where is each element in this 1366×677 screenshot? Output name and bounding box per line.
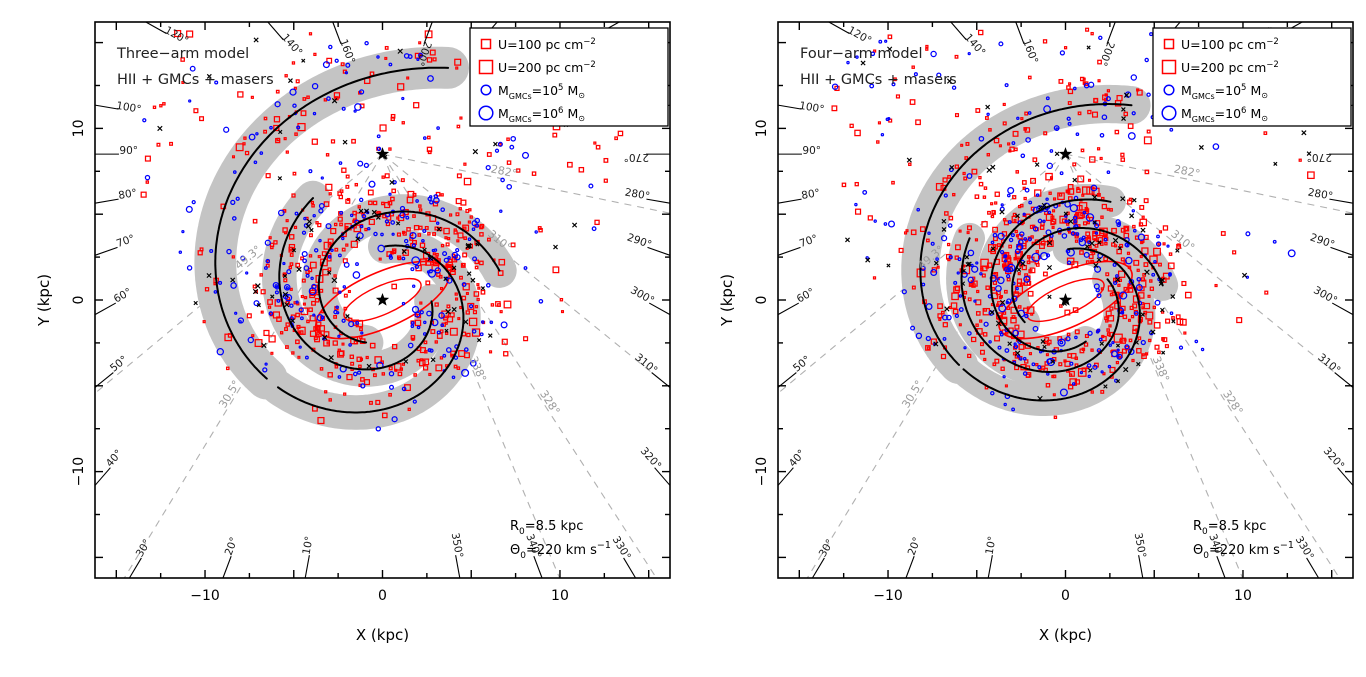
y-tick-label: 10 [71,119,87,137]
longitude-label: 270° [1307,151,1332,163]
panel-title-line2: HII + GMCs + masers [800,72,957,88]
y-tick-label: −10 [754,457,770,487]
longitude-label: 100° [115,100,142,116]
longitude-label: 290° [625,231,653,251]
galactic-center-marker [376,293,389,306]
longitude-label: 60° [112,286,134,306]
x-tick-label: 0 [378,588,387,604]
longitude-label: 160° [1020,38,1040,66]
x-tick-label: 10 [551,588,569,604]
longitude-label: 320° [1321,445,1347,472]
tangent-ray-label: 30.5° [216,378,243,410]
x-tick-label: 0 [1061,588,1070,604]
longitude-label: 350° [1132,532,1148,559]
longitude-label: 290° [1308,231,1336,251]
longitude-label: 80° [801,187,821,202]
legend-label: U=200 pc cm−2 [498,60,596,75]
spiral-arm-bands [920,104,1162,401]
longitude-label: 50° [108,354,130,375]
longitude-label: 90° [119,145,138,157]
longitude-label: 140° [962,32,988,59]
tangent-ray-label: 310° [1168,227,1197,254]
y-axis-label: Y (kpc) [718,274,736,327]
longitude-label: 20° [223,536,241,558]
panel-four-arm-model: −10010100−10X (kpc)Y (kpc)240°220°200°16… [683,0,1366,677]
longitude-label: 20° [906,536,924,558]
longitude-label: 30° [817,537,837,559]
longitude-label: 160° [337,38,357,66]
x-tick-label: −10 [873,588,903,604]
x-tick-label: 10 [1234,588,1252,604]
theta0-annotation: Θ0=220 km s−1 [1193,540,1294,561]
longitude-label: 70° [115,233,137,251]
longitude-label: 30° [134,537,154,559]
tangent-ray-label: 338° [467,354,489,383]
tangent-ray-label: 328° [1220,388,1245,417]
longitude-label: 10° [301,535,316,555]
longitude-label: 10° [984,535,999,555]
longitude-label: 80° [118,187,138,202]
y-tick-label: −10 [71,457,87,487]
longitude-label: 60° [795,286,817,306]
theta0-annotation: Θ0=220 km s−1 [510,540,611,561]
x-axis-label: X (kpc) [356,626,409,644]
r0-annotation: R0=8.5 kpc [1193,519,1266,537]
panel-title-line1: Three−arm model [116,46,249,62]
x-axis-label: X (kpc) [1039,626,1092,644]
y-tick-label: 0 [754,296,770,305]
longitude-label: 280° [1307,186,1334,202]
tangent-ray-label: 282° [1173,162,1202,180]
tangent-ray-label: 282° [490,162,519,180]
longitude-label: 310° [1315,351,1342,376]
longitude-label: 40° [787,448,808,470]
longitude-label: 300° [1311,284,1339,307]
r0-annotation: R0=8.5 kpc [510,519,583,537]
tangent-ray-label: 338° [1150,354,1172,383]
longitude-label: 120° [846,24,874,47]
longitude-label: 310° [632,351,659,376]
panel-three-arm-model: −10010100−10X (kpc)Y (kpc)240°220°200°16… [0,0,683,677]
y-axis-label: Y (kpc) [35,274,53,327]
longitude-label: 270° [624,151,649,163]
longitude-label: 90° [802,145,821,157]
y-tick-label: 10 [754,119,770,137]
tangent-ray-label: 30.5° [899,378,926,410]
legend-label: U=100 pc cm−2 [498,37,596,52]
figure-root: −10010100−10X (kpc)Y (kpc)240°220°200°16… [0,0,1366,677]
longitude-label: 140° [279,32,305,59]
longitude-label: 120° [163,24,191,47]
legend: U=100 pc cm−2U=200 pc cm−2MGMCs=105 M⊙MG… [1153,28,1351,126]
panel-title-line1: Four−arm model [800,46,922,62]
legend-label: U=100 pc cm−2 [1181,37,1279,52]
longitude-label: 320° [638,445,664,472]
legend-label: U=200 pc cm−2 [1181,60,1279,75]
longitude-label: 100° [798,100,825,116]
longitude-label: 200° [1096,40,1116,68]
panel-title-line2: HII + GMCs + masers [117,72,274,88]
longitude-label: 350° [449,532,465,559]
y-tick-label: 0 [71,296,87,305]
longitude-label: 40° [104,448,125,470]
tangent-ray-label: 328° [537,388,562,417]
longitude-label: 330° [1293,534,1316,562]
x-tick-label: −10 [190,588,220,604]
legend: U=100 pc cm−2U=200 pc cm−2MGMCs=105 M⊙MG… [470,28,668,126]
longitude-label: 300° [628,284,656,307]
longitude-label: 280° [624,186,651,202]
longitude-label: 70° [798,233,820,251]
longitude-label: 50° [791,354,813,375]
longitude-label: 330° [610,534,633,562]
